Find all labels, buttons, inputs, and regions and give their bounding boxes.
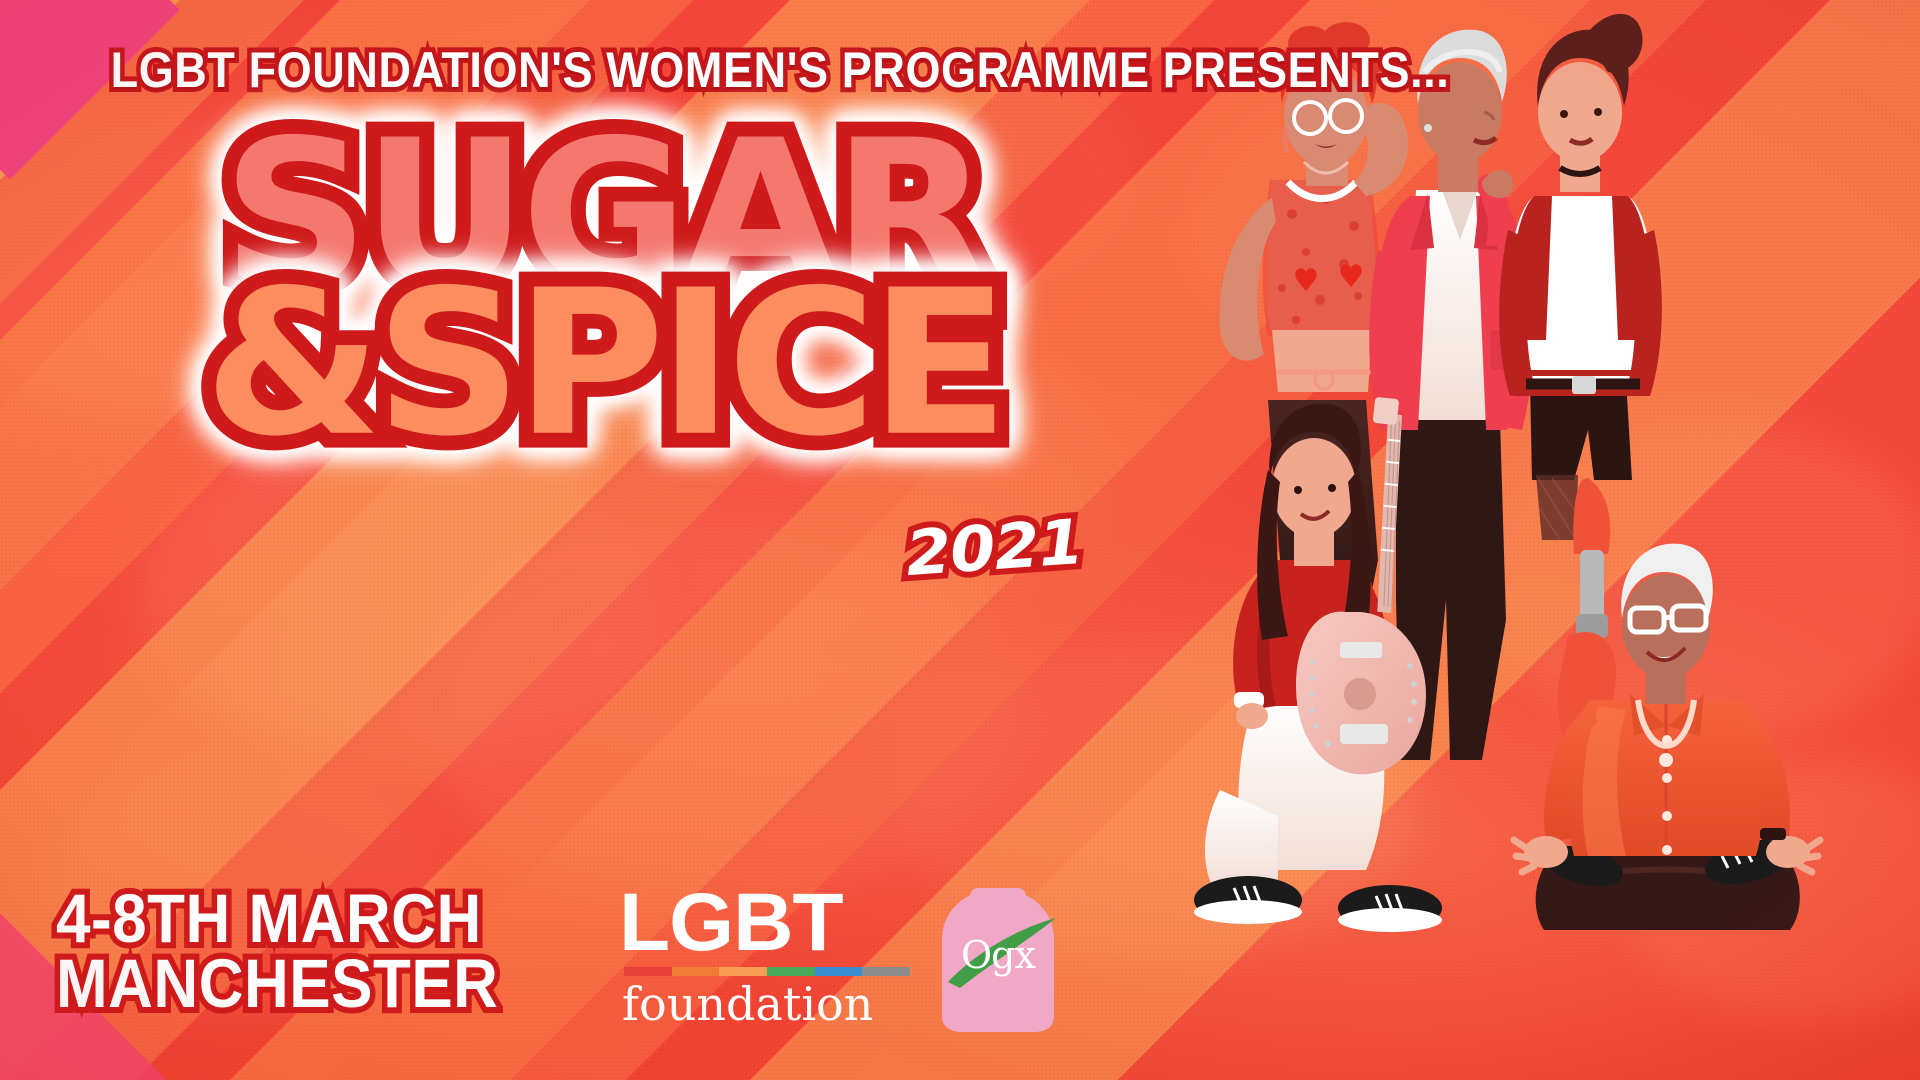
- event-location: MANCHESTER: [56, 949, 498, 1020]
- ogx-sponsor-logo: Ogx: [942, 890, 1054, 1032]
- rainbow-segment-4: [767, 967, 815, 976]
- title-year: 2021: [904, 516, 1084, 580]
- rainbow-segment-3: [719, 967, 767, 976]
- event-date: 4-8TH MARCH: [56, 885, 498, 956]
- rainbow-segment-1: [624, 967, 672, 976]
- lgbt-foundation-logo: LGBT foundation: [622, 884, 922, 1028]
- main-title-lockup: SUGAR &SPICE 2021: [180, 130, 1040, 490]
- ogx-wordmark: Ogx: [942, 936, 1054, 974]
- figures-svg: [1160, 0, 1920, 1080]
- title-spice: &SPICE: [204, 280, 1002, 449]
- rainbow-segment-5: [815, 967, 863, 976]
- rainbow-segment-6: [862, 967, 910, 976]
- headline-text: LGBT FOUNDATION'S WOMEN'S PROGRAMME PRES…: [0, 41, 1560, 99]
- lgbt-foundation-subtitle: foundation: [622, 980, 922, 1028]
- illustration-group: [1160, 0, 1920, 1080]
- event-details: 4-8TH MARCH MANCHESTER: [56, 891, 498, 1020]
- rainbow-segment-2: [672, 967, 720, 976]
- rainbow-bar: [624, 967, 910, 976]
- lgbt-wordmark: LGBT: [619, 884, 925, 961]
- sugar-and-spice-poster: LGBT FOUNDATION'S WOMEN'S PROGRAMME PRES…: [0, 0, 1920, 1080]
- figure-person-orange-shirt-seated: [1514, 544, 1820, 930]
